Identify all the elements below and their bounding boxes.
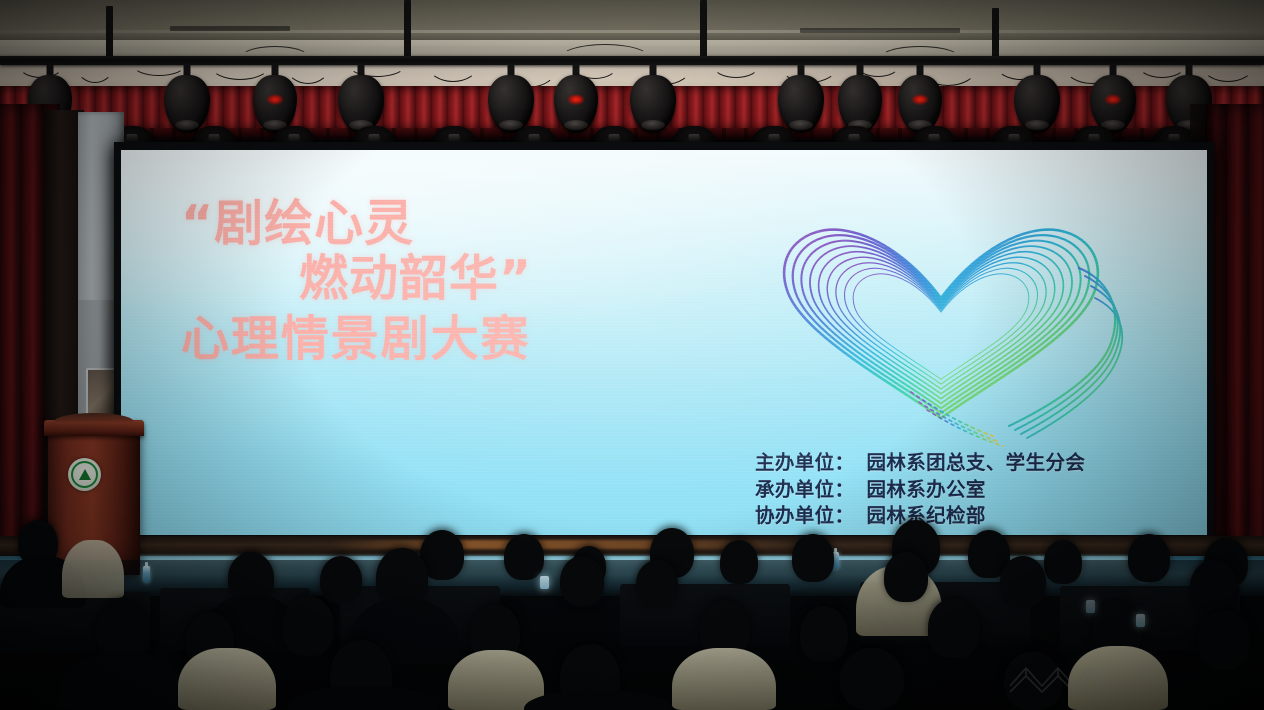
projection-screen: “剧绘心灵 燃动韶华” 心理情景剧大赛	[121, 150, 1207, 535]
organizer-label-coorganizer: 协办单位：	[755, 503, 854, 530]
light-lens	[175, 120, 199, 130]
light-lens	[641, 120, 665, 130]
ceiling-duct	[170, 26, 290, 31]
organizers-block: 主办单位：园林系团总支、学生分会 承办单位：园林系办公室 协办单位：园林系纪检部	[755, 450, 1085, 530]
organizer-label-organizer: 承办单位：	[755, 477, 854, 504]
audience-head	[320, 556, 362, 604]
audience-head	[720, 540, 758, 584]
slide-title-line-2: 燃动韶华”	[181, 249, 821, 309]
audience-head	[928, 598, 980, 658]
lectern-emblem-icon	[68, 458, 101, 491]
ceiling-drop-pipe	[106, 6, 113, 58]
water-bottle	[143, 566, 150, 583]
ceiling-drop-pipe	[700, 0, 707, 58]
audience-head	[1044, 540, 1082, 584]
phone-screen	[1136, 614, 1145, 627]
audience-head	[792, 534, 834, 582]
audience-head	[1198, 610, 1250, 670]
light-glow	[569, 95, 584, 104]
ceiling-drop-pipe	[404, 0, 411, 58]
phone-screen	[540, 576, 549, 589]
slide-title-line-1: “剧绘心灵	[181, 198, 821, 249]
audience-head	[636, 560, 678, 608]
audience-head	[282, 596, 334, 656]
light-glow	[913, 95, 928, 104]
wave-watermark	[1006, 652, 1116, 700]
slide-title-line-3: 心理情景剧大赛	[181, 309, 821, 370]
light-lens	[564, 120, 588, 130]
audience-light-coat	[178, 648, 276, 710]
light-glow	[268, 95, 283, 104]
ceiling-duct	[800, 28, 960, 33]
audience-head	[884, 552, 928, 602]
audience-head	[840, 648, 904, 710]
light-lens	[789, 120, 813, 130]
audience-head	[1128, 534, 1170, 582]
light-lens	[1025, 120, 1049, 130]
audience-head	[1000, 556, 1046, 608]
phone-screen	[1086, 600, 1095, 613]
audience-light-coat	[672, 648, 776, 710]
audience-head	[1190, 560, 1238, 614]
audience-head	[504, 534, 544, 580]
slide-title-block: “剧绘心灵 燃动韶华” 心理情景剧大赛	[181, 198, 821, 371]
audience-light-coat	[62, 540, 124, 598]
organizer-value-host: 园林系团总支、学生分会	[854, 450, 1085, 477]
ceiling-drop-pipe	[992, 8, 999, 58]
audience-head	[800, 606, 848, 662]
audience-head	[560, 556, 604, 606]
light-glow	[1106, 95, 1121, 104]
organizer-line-organizer: 承办单位：园林系办公室	[755, 477, 1085, 504]
lectern-top	[44, 420, 144, 436]
auditorium-scene: “剧绘心灵 燃动韶华” 心理情景剧大赛	[0, 0, 1264, 710]
organizer-label-host: 主办单位：	[755, 450, 854, 477]
emblem-ring	[71, 461, 98, 488]
organizer-line-host: 主办单位：园林系团总支、学生分会	[755, 450, 1085, 477]
organizer-value-organizer: 园林系办公室	[854, 477, 985, 504]
gradient-heart-logo	[741, 212, 1141, 452]
